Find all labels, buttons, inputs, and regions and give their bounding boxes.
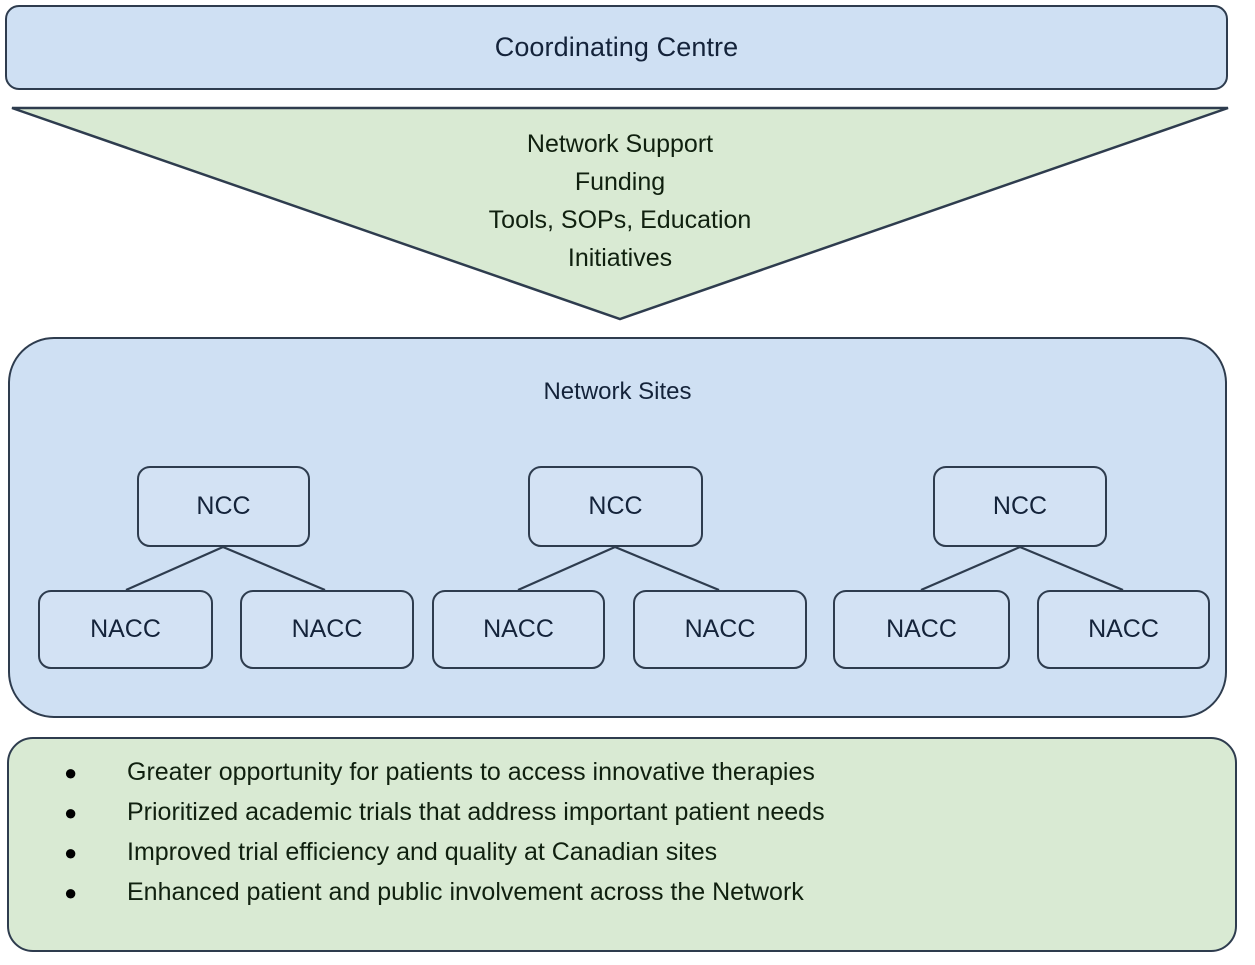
benefits-panel: ● Greater opportunity for patients to ac…: [7, 737, 1237, 952]
benefit-item-2: ● Prioritized academic trials that addre…: [64, 798, 825, 838]
bullet-icon: ●: [64, 802, 127, 824]
nacc-box-2b: NACC: [633, 590, 807, 669]
network-support-funnel: [0, 103, 1255, 325]
ncc-box-2: NCC: [528, 466, 703, 547]
network-sites-title: Network Sites: [0, 378, 1235, 406]
nacc-label-3b: NACC: [1088, 615, 1159, 644]
benefit-text-4: Enhanced patient and public involvement …: [127, 878, 804, 907]
bullet-icon: ●: [64, 762, 127, 784]
ncc-box-1: NCC: [137, 466, 310, 547]
nacc-label-3a: NACC: [886, 615, 957, 644]
ncc-label-3: NCC: [993, 492, 1047, 521]
benefit-item-3: ● Improved trial efficiency and quality …: [64, 838, 825, 878]
benefits-list: ● Greater opportunity for patients to ac…: [64, 758, 825, 918]
nacc-label-1a: NACC: [90, 615, 161, 644]
benefit-item-1: ● Greater opportunity for patients to ac…: [64, 758, 825, 798]
benefit-item-4: ● Enhanced patient and public involvemen…: [64, 878, 825, 918]
ncc-label-1: NCC: [196, 492, 250, 521]
ncc-label-2: NCC: [588, 492, 642, 521]
bullet-icon: ●: [64, 842, 127, 864]
benefit-text-3: Improved trial efficiency and quality at…: [127, 838, 717, 867]
funnel-shape: [0, 103, 1255, 325]
coordinating-centre-label: Coordinating Centre: [495, 32, 739, 63]
nacc-label-1b: NACC: [292, 615, 363, 644]
ncc-box-3: NCC: [933, 466, 1107, 547]
nacc-label-2b: NACC: [685, 615, 756, 644]
nacc-label-2a: NACC: [483, 615, 554, 644]
nacc-box-3b: NACC: [1037, 590, 1210, 669]
benefit-text-1: Greater opportunity for patients to acce…: [127, 758, 815, 787]
nacc-box-1a: NACC: [38, 590, 213, 669]
benefit-text-2: Prioritized academic trials that address…: [127, 798, 825, 827]
nacc-box-1b: NACC: [240, 590, 414, 669]
coordinating-centre-box: Coordinating Centre: [5, 5, 1228, 90]
bullet-icon: ●: [64, 882, 127, 904]
nacc-box-3a: NACC: [833, 590, 1010, 669]
nacc-box-2a: NACC: [432, 590, 605, 669]
diagram-canvas: Coordinating Centre Network Support Fund…: [0, 0, 1255, 965]
